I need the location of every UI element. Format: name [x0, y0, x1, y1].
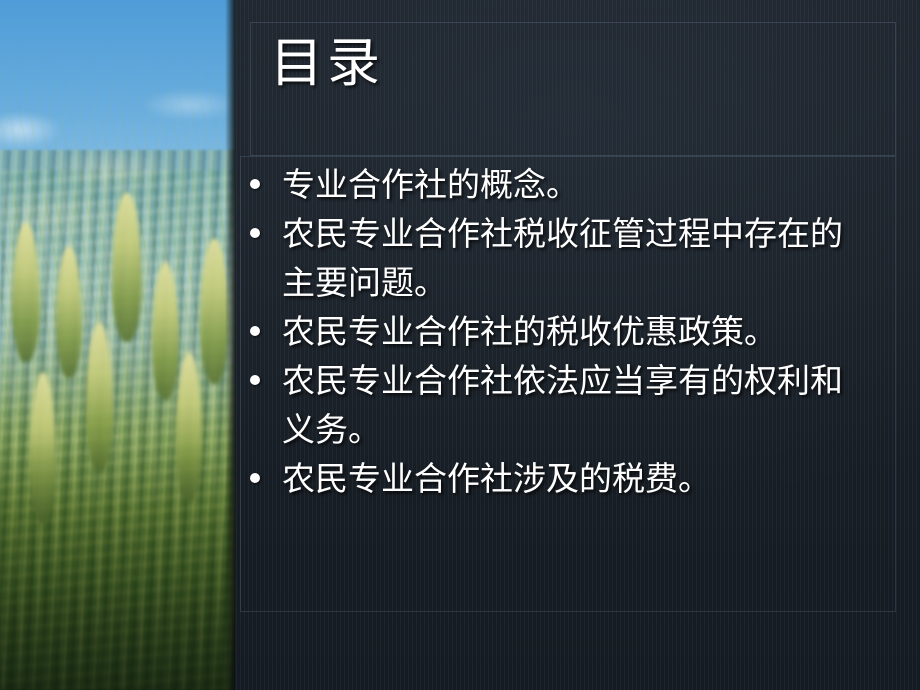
list-item[interactable]: 农民专业合作社涉及的税费。: [240, 454, 900, 503]
list-item[interactable]: 农民专业合作社依法应当享有的权利和义务。: [240, 356, 900, 454]
bullet-dot-icon: [240, 454, 282, 503]
bullet-dot-icon: [240, 160, 282, 209]
bullet-dot-icon: [240, 356, 282, 405]
list-item[interactable]: 农民专业合作社的税收优惠政策。: [240, 307, 900, 356]
list-item-label: 农民专业合作社涉及的税费。: [282, 454, 867, 503]
list-item[interactable]: 专业合作社的概念。: [240, 160, 900, 209]
wheat-field-photo: [0, 0, 235, 690]
presentation-slide: 目录 专业合作社的概念。 农民专业合作社税收征管过程中存在的主要问题。 农民专业…: [0, 0, 920, 690]
bullet-dot-icon: [240, 307, 282, 356]
list-item[interactable]: 农民专业合作社税收征管过程中存在的主要问题。: [240, 209, 900, 307]
photo-shadow-overlay: [0, 440, 235, 690]
list-item-label: 农民专业合作社的税收优惠政策。: [282, 307, 867, 356]
bullet-dot-icon: [240, 209, 282, 258]
bullet-list: 专业合作社的概念。 农民专业合作社税收征管过程中存在的主要问题。 农民专业合作社…: [240, 160, 900, 503]
list-item-label: 农民专业合作社依法应当享有的权利和义务。: [282, 356, 867, 454]
list-item-label: 农民专业合作社税收征管过程中存在的主要问题。: [282, 209, 867, 307]
list-item-label: 专业合作社的概念。: [282, 160, 867, 209]
photo-edge-shadow: [225, 0, 235, 690]
page-title: 目录: [270, 33, 384, 95]
